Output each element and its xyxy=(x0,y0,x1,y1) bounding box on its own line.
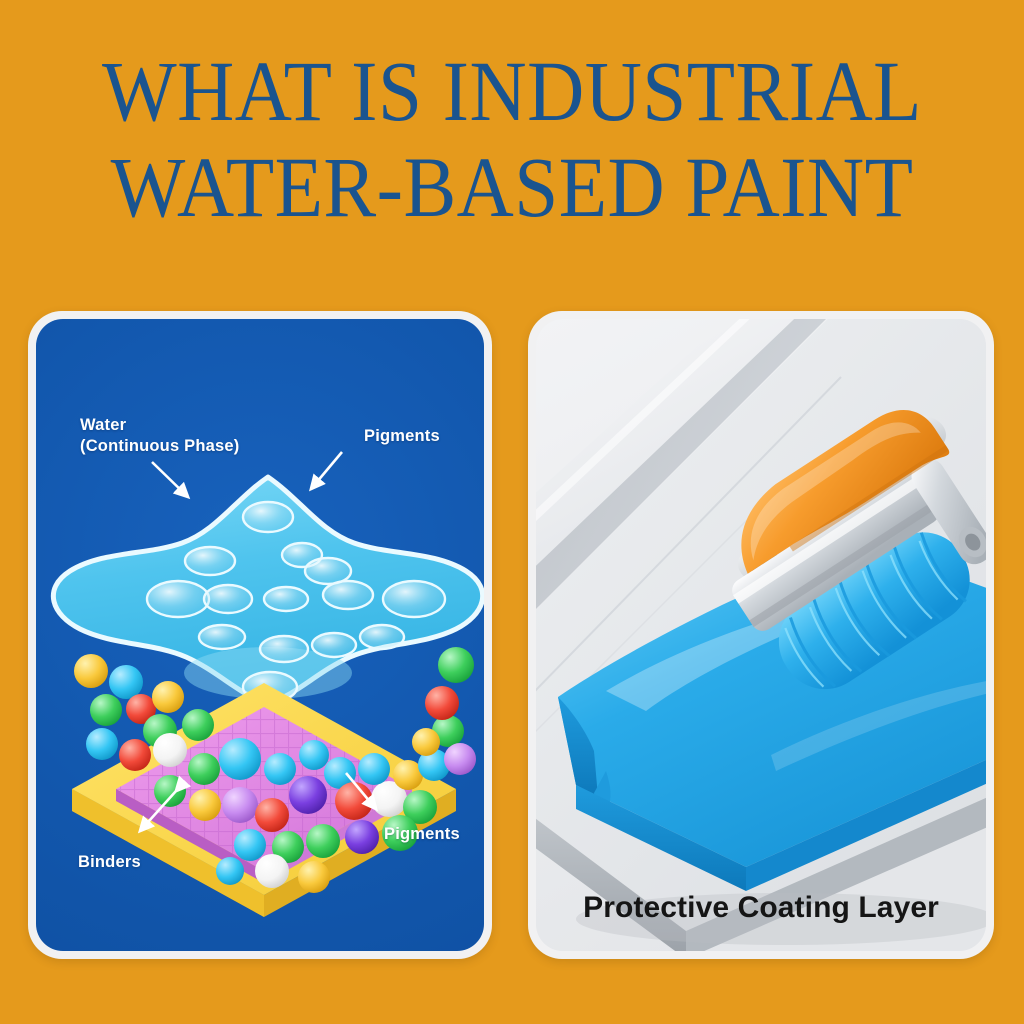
label-pigments-bottom: Pigments xyxy=(384,824,460,845)
title-line-1: WHAT IS INDUSTRIAL xyxy=(41,48,983,136)
composition-diagram-panel: Water (Continuous Phase) Pigments Pigmen… xyxy=(28,311,492,959)
composition-diagram-canvas: Water (Continuous Phase) Pigments Pigmen… xyxy=(36,319,484,951)
title-line-2: WATER-BASED PAINT xyxy=(41,144,983,232)
page-title: WHAT IS INDUSTRIAL WATER-BASED PAINT xyxy=(0,48,1024,231)
label-binders: Binders xyxy=(78,852,141,873)
poster-canvas: WHAT IS INDUSTRIAL WATER-BASED PAINT xyxy=(0,0,1024,1024)
label-water: Water (Continuous Phase) xyxy=(80,415,239,458)
label-pigments-top: Pigments xyxy=(364,426,440,447)
panel-caption: Protective Coating Layer xyxy=(536,891,986,925)
coating-photo-illustration xyxy=(536,319,986,951)
protective-coating-canvas: Protective Coating Layer xyxy=(536,319,986,951)
protective-coating-panel: Protective Coating Layer xyxy=(528,311,994,959)
label-water-line1: Water xyxy=(80,416,126,434)
label-water-line2: (Continuous Phase) xyxy=(80,437,239,455)
